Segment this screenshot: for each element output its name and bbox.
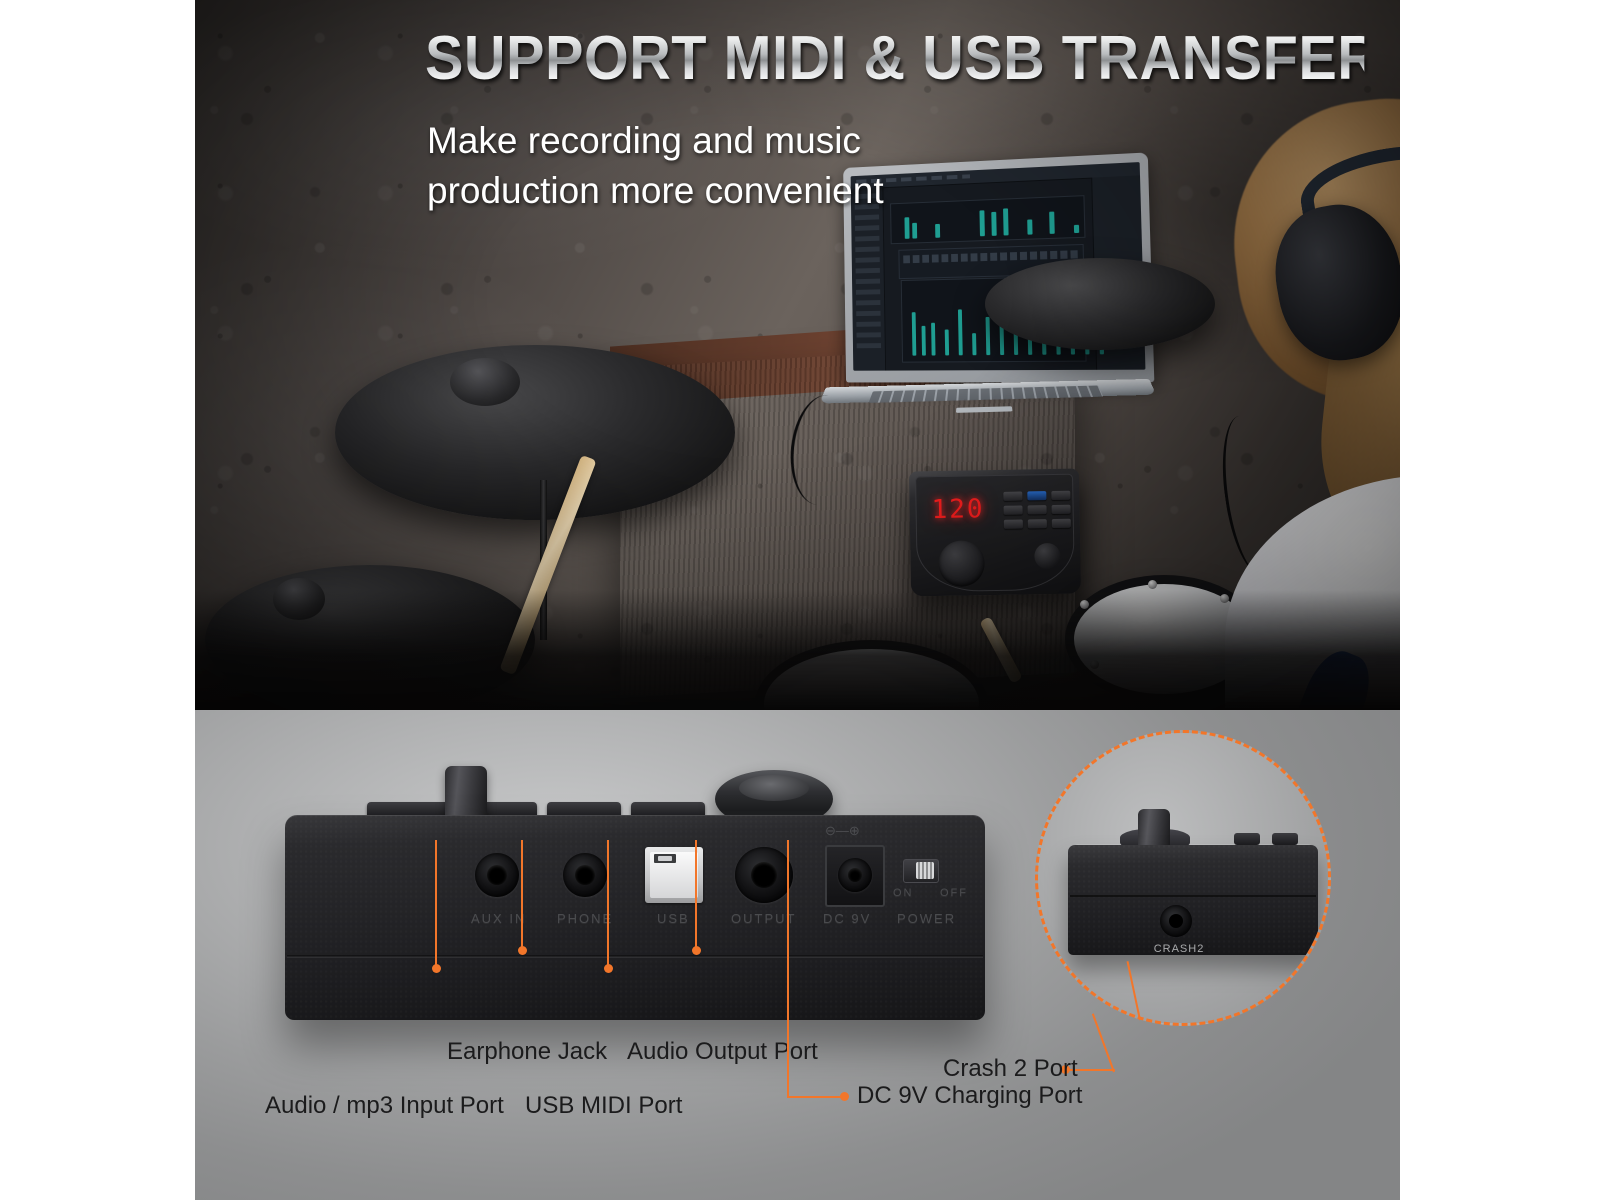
hero-subline: Make recording and music production more… [427,116,1067,216]
leader-line-aux [435,840,437,968]
callout-label-crash-2-port: Crash 2 Port [943,1055,1078,1083]
callout-label-dc-9v-charging-port: DC 9V Charging Port [857,1082,1082,1110]
silkscreen-dc9v: DC 9V [823,911,871,926]
leader-dot-usb [604,964,613,973]
switch-off-label: OFF [940,887,968,899]
photo-vignette [195,0,1400,710]
hero-headline: SUPPORT MIDI & USB TRANSFER [425,28,1364,90]
callout-label-usb-midi-port: USB MIDI Port [525,1092,682,1120]
inset-crash2-silkscreen: CRASH2 [1134,943,1224,955]
leader-line-dc-vertical [787,840,789,1098]
hero-subline-line1: Make recording and music [427,116,1067,166]
inset-button-2 [1272,833,1298,845]
inset-button-1 [1234,833,1260,845]
leader-line-output [695,840,697,950]
leader-line-phone [521,840,523,950]
leader-line-usb [607,840,609,968]
leader-line-crash-diagonal [1092,1013,1115,1072]
silkscreen-phone: PHONE [557,911,613,926]
dc-polarity-icon: ⊖—⊕ [825,823,860,839]
inset-device-body [1068,845,1318,955]
product-infographic: 120 [0,0,1600,1200]
silkscreen-aux-in: AUX IN [471,911,526,926]
callout-label-audio-output-port: Audio Output Port [627,1038,818,1066]
phone-jack [563,853,607,897]
ports-diagram-panel: ⊖—⊕ ON OFF AUX IN PHONE USB OUTPUT DC 9V… [195,710,1400,1200]
dc-power-jack-housing [825,845,885,907]
callout-label-audio-mp3-input-port: Audio / mp3 Input Port [265,1092,504,1120]
leader-dot-output [692,946,701,955]
crash2-detail-inset: CRASH2 [1035,730,1331,1026]
power-switch[interactable] [903,859,939,883]
switch-on-label: ON [893,887,914,899]
leader-dot-dc [840,1092,849,1101]
crash2-jack [1160,905,1192,937]
aux-in-jack [475,853,519,897]
silkscreen-usb: USB [657,911,690,926]
leader-dot-aux [432,964,441,973]
leader-dot-phone [518,946,527,955]
inset-device-seam [1070,895,1316,897]
audio-output-jack [735,847,793,903]
leader-line-dc-horizontal [787,1096,845,1098]
silkscreen-power: POWER [897,911,956,926]
hero-photo: 120 [195,0,1400,710]
drum-module-rear-panel: ⊖—⊕ ON OFF AUX IN PHONE USB OUTPUT DC 9V… [285,815,985,1020]
callout-label-earphone-jack: Earphone Jack [447,1038,607,1066]
hero-subline-line2: production more convenient [427,166,1067,216]
